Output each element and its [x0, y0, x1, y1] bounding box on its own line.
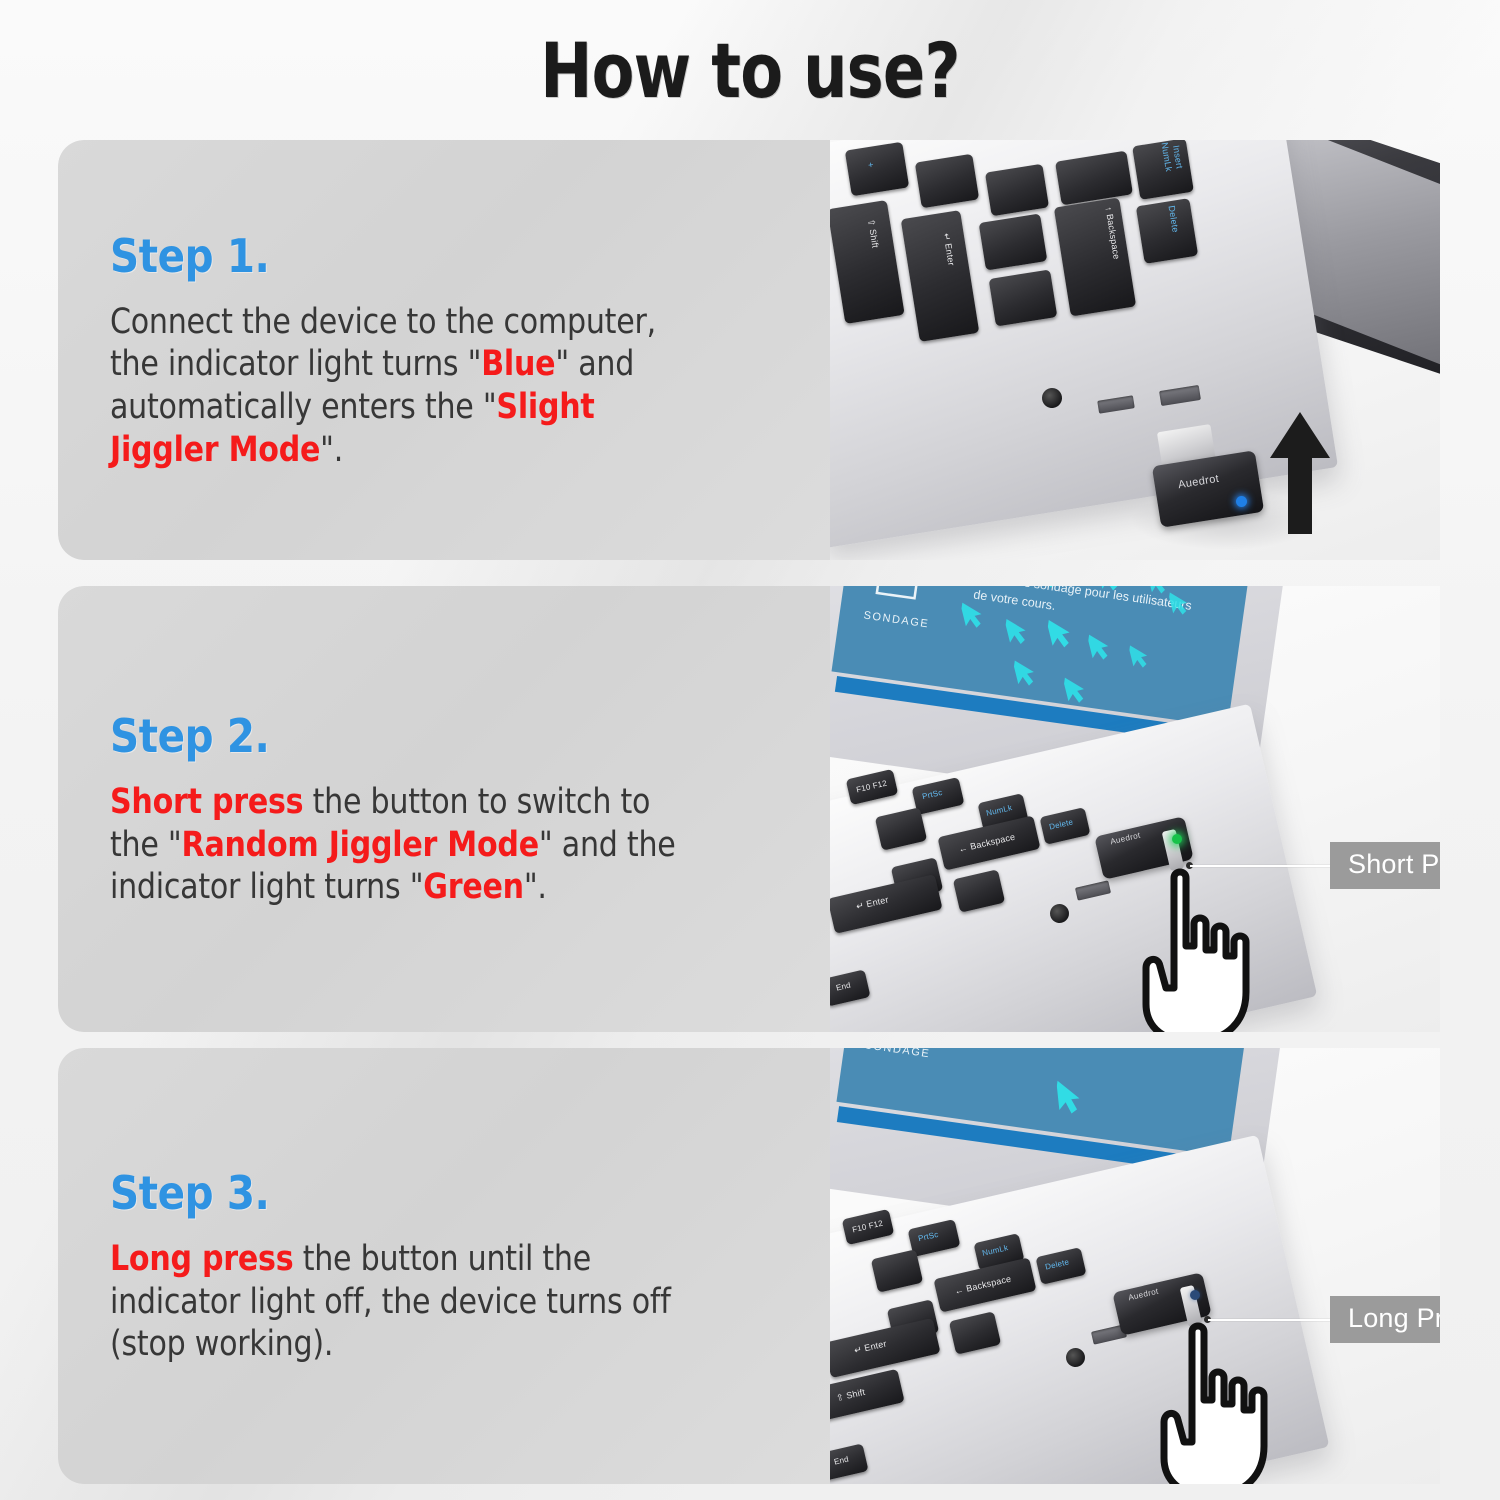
led-indicator-blue	[1236, 496, 1247, 507]
step-2-body-part-2: Random Jiggler Mode	[182, 825, 539, 865]
led-indicator-green	[1172, 834, 1182, 844]
cursor-arrow-icon	[1167, 586, 1191, 618]
cursor-arrow-icon	[959, 595, 986, 632]
step-1-heading: Step 1.	[110, 229, 707, 283]
step-3-body: Long press the button until the indicato…	[110, 1238, 693, 1366]
cursor-arrow-icon	[1085, 627, 1112, 664]
key-bracket	[915, 154, 979, 209]
step-2-photo: SONDAGE Créer des sondage pour les utili…	[830, 586, 1440, 1032]
callout-long-press: Long Press	[1330, 1296, 1440, 1343]
step-2-body-part-4: Green	[423, 867, 524, 907]
step-2-body-part-0: Short press	[110, 782, 303, 822]
cursor-arrow-icon	[1003, 611, 1030, 648]
step-1-body-part-1: Blue	[481, 344, 555, 384]
key-backslash	[985, 164, 1049, 217]
step-card-1: Step 1. Connect the device to the comput…	[58, 140, 1440, 560]
hand-pointing-icon	[1126, 864, 1256, 1032]
step-1-body-part-4: ".	[320, 430, 343, 470]
cursor-arrow-icon	[1127, 639, 1151, 671]
cursor-arrow-icon	[1045, 611, 1074, 652]
step-3-heading: Step 3.	[110, 1166, 707, 1220]
step-2-heading: Step 2.	[110, 709, 707, 763]
key-arrow-down	[989, 269, 1058, 326]
step-2-body: Short press the button to switch to the …	[110, 781, 693, 909]
cursor-arrow-icon	[1011, 653, 1038, 690]
sondage-app-label: SONDAGE	[863, 609, 930, 630]
page-title: How to use?	[135, 26, 1365, 115]
sondage-app-label-3: SONDAGE	[864, 1048, 931, 1060]
led-indicator-off	[1190, 1290, 1200, 1300]
key-plus	[845, 142, 909, 197]
step-card-2: Step 2. Short press the button to switch…	[58, 586, 1440, 1032]
step-1-text-pane: Step 1. Connect the device to the comput…	[58, 140, 830, 560]
infographic-page: How to use? Step 1. Connect the device t…	[0, 0, 1500, 1500]
callout-short-press: Short Press	[1330, 842, 1440, 889]
step-1-photo: + NumLk Insert ⇧ Shift ↵ Enter ↑ Backspa…	[830, 140, 1440, 560]
cursor-arrow-icon	[1061, 670, 1088, 707]
key-arrow-up	[979, 213, 1048, 270]
sondage-checklist-icon	[872, 586, 934, 608]
sondage-description-3: Créer des sondage pour les utilisateurs …	[975, 1048, 1208, 1068]
step-3-text-pane: Step 3. Long press the button until the …	[58, 1048, 830, 1484]
step-2-body-part-5: ".	[524, 867, 547, 907]
arrow-up-icon	[1266, 408, 1334, 538]
step-card-3: Step 3. Long press the button until the …	[58, 1048, 1440, 1484]
step-3-body-part-0: Long press	[110, 1239, 293, 1279]
step-3-photo: SONDAGE Créer des sondage pour les utili…	[830, 1048, 1440, 1484]
step-1-body: Connect the device to the computer, the …	[110, 301, 693, 472]
cursor-arrow-icon	[1053, 1074, 1084, 1117]
hand-pointing-icon	[1144, 1318, 1274, 1484]
step-2-text-pane: Step 2. Short press the button to switch…	[58, 586, 830, 1032]
